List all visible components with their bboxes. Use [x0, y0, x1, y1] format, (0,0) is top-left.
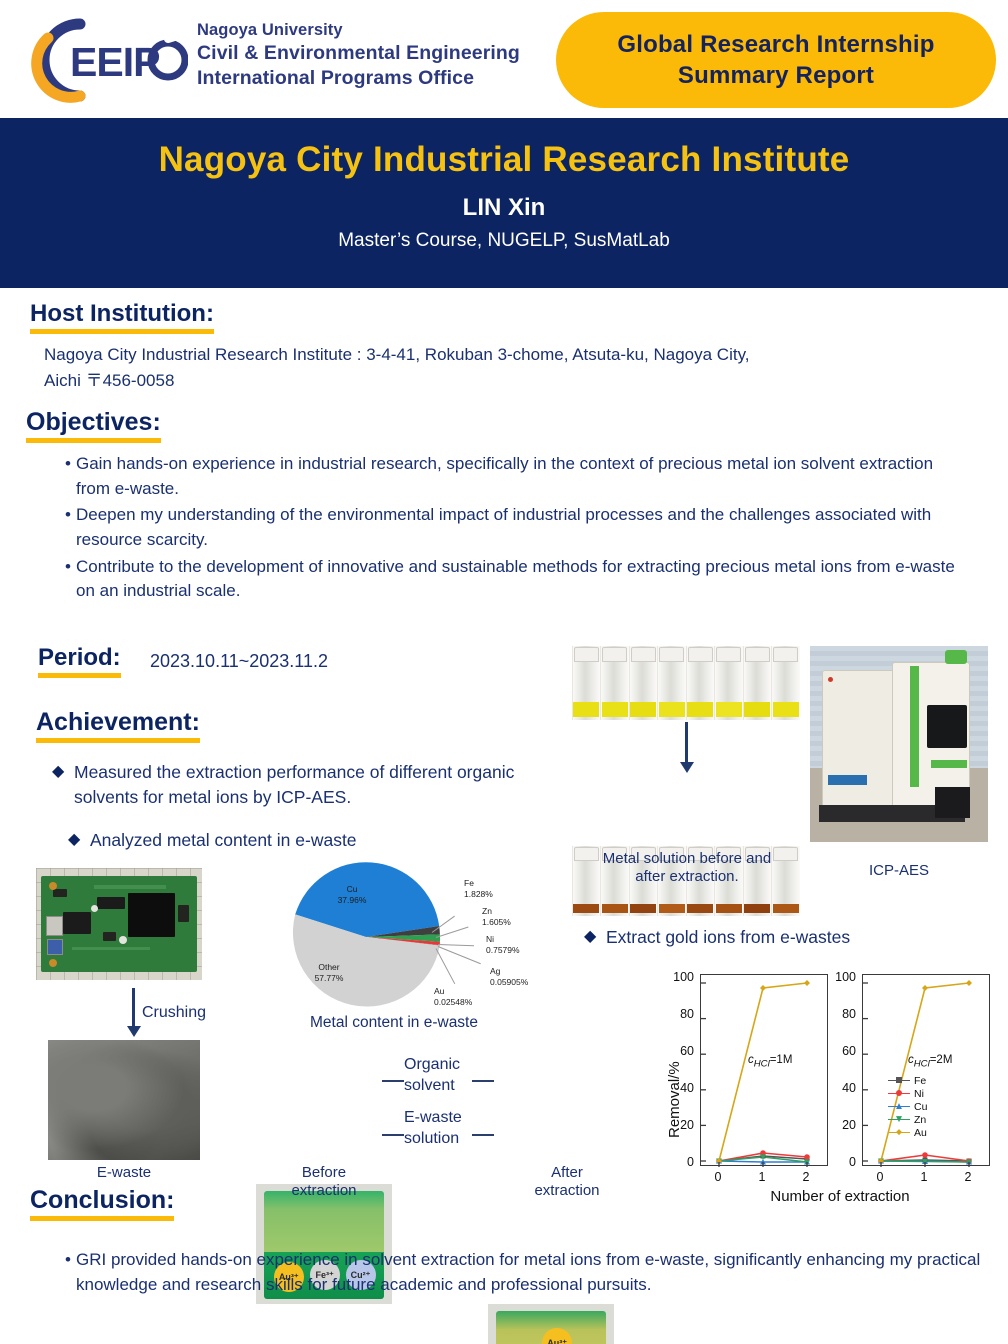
badge-line-1: Global Research Internship — [617, 31, 934, 59]
panel1-x-tick-1: 1 — [750, 1170, 774, 1184]
ewaste-caption: E-waste — [46, 1164, 202, 1182]
conclusion-heading-text: Conclusion: — [30, 1186, 174, 1214]
pie-label-ag: Ag 0.05905% — [490, 966, 528, 987]
host-institution-body: Nagoya City Industrial Research Institut… — [44, 342, 974, 393]
panel-2m-annotation: cHCl=2M — [908, 1054, 952, 1069]
vial — [687, 646, 715, 720]
achievement-text: Extract gold ions from e-wastes — [606, 925, 850, 950]
beaker-before-caption: Before extraction — [254, 1164, 394, 1201]
beaker-before-line-1: Before — [254, 1164, 394, 1182]
legend-label-au: Au — [914, 1127, 927, 1139]
ceeipo-logo: EEIP — [18, 12, 188, 108]
beaker-before-line-2: extraction — [254, 1182, 394, 1200]
panel2-x-tick-0: 0 — [868, 1170, 892, 1184]
pie-label-cu: Cu 37.96% — [332, 884, 372, 905]
y2-tick-100: 100 — [826, 970, 856, 984]
poster-header: EEIP Nagoya University Civil & Environme… — [0, 0, 1008, 118]
pie-label-zn-name: Zn — [482, 906, 511, 917]
svg-text:EEIP: EEIP — [70, 39, 159, 85]
pie-label-au-name: Au — [434, 986, 472, 997]
removal-line-charts: Removal/% 100 80 60 40 20 0 — [650, 962, 996, 1208]
legend-swatch-cu — [888, 1106, 910, 1108]
pie-label-other-value: 57.77% — [306, 973, 352, 984]
ewaste-solution-line-2: solution — [404, 1129, 484, 1150]
beaker-after-photo: Au³⁺ Fe³⁺ Cu²⁺ — [488, 1304, 614, 1344]
panel-1m-svg — [701, 975, 829, 1167]
y2-tick-80: 80 — [826, 1007, 856, 1021]
pie-label-cu-name: Cu — [332, 884, 372, 895]
achievement-heading-text: Achievement: — [36, 708, 200, 736]
vial — [601, 646, 629, 720]
bullet-icon: • — [60, 555, 76, 580]
vials-caption-line-1: Metal solution before and — [570, 850, 804, 868]
legend-item-cu: Cu — [888, 1100, 927, 1113]
author-affiliation: Master’s Course, NUGELP, SusMatLab — [0, 230, 1008, 252]
process-arrow-head — [680, 762, 694, 773]
host-institution-heading: Host Institution: — [30, 300, 214, 334]
host-institution-heading-text: Host Institution: — [30, 300, 214, 327]
panel-1m-annotation-value: =1M — [770, 1054, 793, 1066]
list-item: • GRI provided hands-on experience in so… — [60, 1248, 990, 1297]
achievement-heading: Achievement: — [36, 708, 200, 743]
legend-item-ni: Ni — [888, 1087, 927, 1100]
leader-organic-left — [382, 1080, 404, 1082]
icp-caption: ICP-AES — [808, 862, 990, 880]
pie-label-au: Au 0.02548% — [434, 986, 472, 1007]
vial — [772, 646, 800, 720]
bullet-icon: • — [60, 503, 76, 528]
y-tick-40: 40 — [664, 1081, 694, 1095]
objective-text: Contribute to the development of innovat… — [76, 555, 970, 604]
icp-aes-photo — [810, 646, 988, 842]
pie-label-ni: Ni 0.7579% — [486, 934, 520, 955]
panel2-x-tick-1: 1 — [912, 1170, 936, 1184]
title-banner: Nagoya City Industrial Research Institut… — [0, 118, 1008, 288]
host-address-line-2: Aichi 〒456-0058 — [44, 368, 974, 394]
bullet-icon: • — [60, 1248, 76, 1273]
panel-2m-annotation-value: =2M — [930, 1054, 953, 1066]
pie-label-cu-value: 37.96% — [332, 895, 372, 906]
y-tick-20: 20 — [664, 1118, 694, 1132]
heading-underline — [30, 329, 214, 334]
pie-label-zn: Zn 1.605% — [482, 906, 511, 927]
legend-swatch-fe — [888, 1080, 910, 1082]
achievement-item-3: ◆ Extract gold ions from e-wastes — [584, 925, 984, 952]
ewaste-solution-line-1: E-waste — [404, 1108, 484, 1129]
vial — [715, 646, 743, 720]
org-line-3: International Programs Office — [197, 66, 520, 91]
y-tick-60: 60 — [664, 1044, 694, 1058]
legend-item-zn: Zn — [888, 1113, 927, 1126]
pie-label-ni-name: Ni — [486, 934, 520, 945]
heading-underline — [26, 438, 161, 443]
pie-label-fe: Fe 1.828% — [464, 878, 493, 899]
panel2-x-tick-2: 2 — [956, 1170, 980, 1184]
conclusion-text: GRI provided hands-on experience in solv… — [76, 1248, 990, 1297]
organic-solvent-line-1: Organic — [404, 1055, 478, 1076]
legend-label-ni: Ni — [914, 1088, 924, 1100]
author-name: LIN Xin — [0, 194, 1008, 222]
ewaste-powder-photo — [48, 1040, 200, 1160]
pie-label-ag-value: 0.05905% — [490, 977, 528, 988]
vial — [573, 646, 601, 720]
beaker-after-line-2: extraction — [504, 1182, 630, 1200]
y-tick-80: 80 — [664, 1007, 694, 1021]
y2-tick-40: 40 — [826, 1081, 856, 1095]
legend-item-fe: Fe — [888, 1074, 927, 1087]
ewaste-solution-label: E-waste solution — [404, 1108, 484, 1150]
crushing-arrow-line — [132, 988, 135, 1028]
achievement-item-1: ◆ Measured the extraction performance of… — [52, 760, 572, 813]
legend-swatch-ni — [888, 1093, 910, 1095]
list-item: • Contribute to the development of innov… — [60, 555, 970, 604]
diamond-bullet-icon: ◆ — [52, 760, 74, 783]
list-item: • Gain hands-on experience in industrial… — [60, 452, 970, 501]
ceeipo-logo-icon: EEIP — [18, 12, 188, 108]
achievement-item-2: ◆ Analyzed metal content in e-waste — [68, 828, 548, 855]
metal-content-pie-chart: Cu 37.96% Other 57.77% Fe 1.828% Zn 1.60… — [286, 862, 576, 1012]
conclusion-list: • GRI provided hands-on experience in so… — [60, 1248, 990, 1299]
org-line-2: Civil & Environmental Engineering — [197, 41, 520, 66]
pie-label-ag-name: Ag — [490, 966, 528, 977]
chart-panel-1m — [700, 974, 828, 1166]
chart-legend: Fe Ni Cu Zn Au — [888, 1074, 927, 1139]
panel-1m-annotation: cHCl=1M — [748, 1054, 792, 1069]
bullet-icon: • — [60, 452, 76, 477]
report-type-badge: Global Research Internship Summary Repor… — [556, 12, 996, 108]
y2-tick-60: 60 — [826, 1044, 856, 1058]
vials-before-photo — [572, 646, 800, 720]
leader-aqueous-left — [382, 1134, 404, 1136]
crushing-arrow-head — [127, 1026, 141, 1037]
page-title: Nagoya City Industrial Research Institut… — [0, 140, 1008, 180]
achievement-text: Measured the extraction performance of d… — [74, 760, 572, 811]
chart-x-axis-label: Number of extraction — [690, 1188, 990, 1205]
period-value: 2023.10.11~2023.11.2 — [150, 651, 328, 672]
crushing-label: Crushing — [142, 1004, 206, 1022]
legend-swatch-zn — [888, 1119, 910, 1121]
heading-underline — [30, 1216, 174, 1221]
org-line-1: Nagoya University — [197, 20, 520, 41]
objective-text: Gain hands-on experience in industrial r… — [76, 452, 970, 501]
y-tick-0: 0 — [664, 1155, 694, 1169]
diamond-bullet-icon: ◆ — [68, 828, 90, 851]
organic-solvent-line-2: solvent — [404, 1076, 478, 1097]
heading-underline — [38, 673, 121, 678]
period-heading: Period: — [38, 644, 121, 678]
diamond-bullet-icon: ◆ — [584, 925, 606, 948]
objectives-heading-text: Objectives: — [26, 408, 161, 436]
panel1-x-tick-0: 0 — [706, 1170, 730, 1184]
pie-caption: Metal content in e-waste — [286, 1014, 502, 1033]
legend-label-fe: Fe — [914, 1075, 926, 1087]
process-arrow-line — [685, 722, 688, 764]
pie-label-fe-name: Fe — [464, 878, 493, 889]
vial — [658, 646, 686, 720]
achievement-text: Analyzed metal content in e-waste — [90, 828, 357, 853]
pie-label-other-name: Other — [306, 962, 352, 973]
objectives-heading: Objectives: — [26, 408, 161, 443]
pie-label-ni-value: 0.7579% — [486, 945, 520, 956]
legend-label-cu: Cu — [914, 1101, 927, 1113]
y2-tick-0: 0 — [826, 1155, 856, 1169]
legend-item-au: Au — [888, 1126, 927, 1139]
vial — [630, 646, 658, 720]
badge-line-2: Summary Report — [678, 62, 874, 90]
poster-page: EEIP Nagoya University Civil & Environme… — [0, 0, 1008, 1344]
pie-label-zn-value: 1.605% — [482, 917, 511, 928]
host-address-line-1: Nagoya City Industrial Research Institut… — [44, 342, 974, 368]
pie-label-fe-value: 1.828% — [464, 889, 493, 900]
heading-underline — [36, 738, 200, 743]
objectives-list: • Gain hands-on experience in industrial… — [60, 452, 970, 606]
beaker-after-line-1: After — [504, 1164, 630, 1182]
period-heading-text: Period: — [38, 644, 121, 671]
list-item: • Deepen my understanding of the environ… — [60, 503, 970, 552]
y2-tick-20: 20 — [826, 1118, 856, 1132]
objective-text: Deepen my understanding of the environme… — [76, 503, 970, 552]
vials-caption-line-2: after extraction. — [570, 868, 804, 886]
y-tick-100: 100 — [664, 970, 694, 984]
panel1-x-tick-2: 2 — [794, 1170, 818, 1184]
beaker-after-caption: After extraction — [504, 1164, 630, 1201]
organic-solvent-label: Organic solvent — [404, 1055, 478, 1097]
vial — [744, 646, 772, 720]
conclusion-heading: Conclusion: — [30, 1186, 174, 1221]
legend-swatch-au — [888, 1132, 910, 1134]
legend-label-zn: Zn — [914, 1114, 926, 1126]
organization-block: Nagoya University Civil & Environmental … — [197, 20, 520, 92]
vials-caption: Metal solution before and after extracti… — [570, 850, 804, 887]
pie-label-au-value: 0.02548% — [434, 997, 472, 1008]
pcb-photo — [36, 868, 202, 980]
pie-label-other: Other 57.77% — [306, 962, 352, 983]
